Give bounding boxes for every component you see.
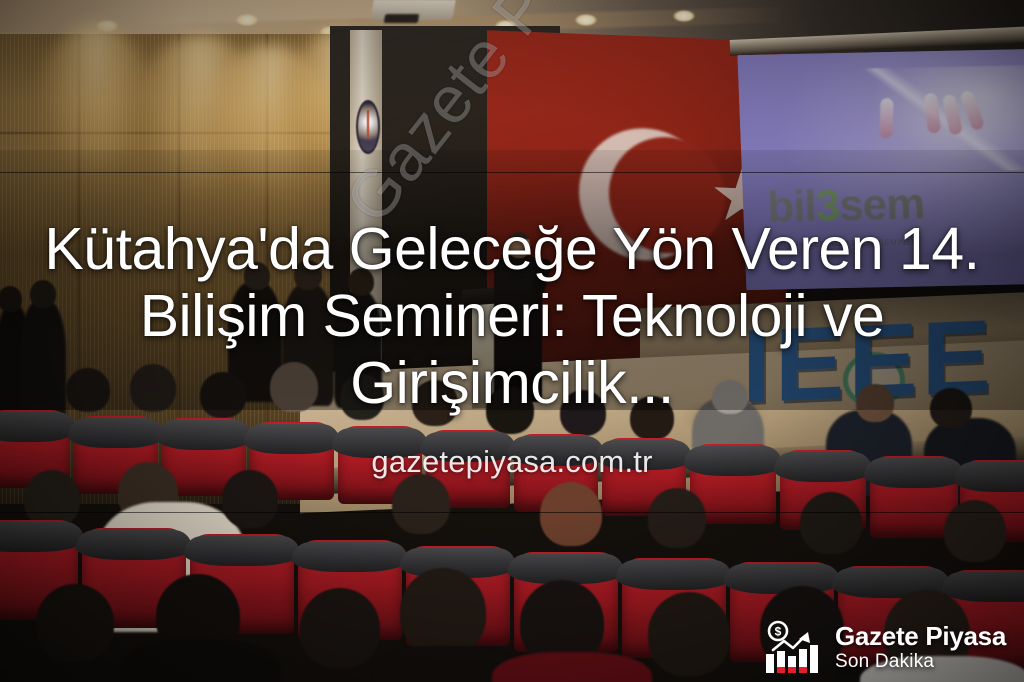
bar-chart-dollar-arrow-icon: $: [764, 620, 826, 674]
attendee-head: [222, 470, 278, 528]
ceiling-light-icon: [575, 14, 597, 26]
brand-text: Gazete Piyasa Son Dakika: [835, 623, 1006, 671]
attendee-head: [944, 500, 1006, 562]
university-emblem-icon: [356, 100, 380, 154]
wall-panel-seam: [0, 132, 350, 134]
attendee-head: [648, 488, 706, 548]
ceiling-light-icon: [673, 10, 695, 22]
attendee-head: [300, 588, 380, 668]
brand-subtitle: Son Dakika: [835, 652, 1006, 671]
attendee-head: [400, 568, 486, 656]
ceiling-projector: [370, 0, 456, 20]
svg-text:$: $: [775, 625, 782, 639]
screenshot-root: bil3sem BILISIM TEKNOLOJILERI SEMINERI I…: [0, 0, 1024, 682]
attendee-head: [540, 482, 602, 546]
brand-logo: $ Gazete Piyasa Son Dakika: [764, 620, 1006, 674]
attendee-head: [392, 474, 450, 534]
attendee-head: [36, 584, 114, 662]
seated-attendee: [120, 640, 280, 682]
ceiling-light-icon: [96, 20, 118, 32]
page-title: Kütahya'da Geleceğe Yön Veren 14. Bilişi…: [0, 216, 1024, 418]
attendee-head: [648, 592, 730, 676]
robotic-hand-icon: [879, 98, 893, 139]
brand-title: Gazete Piyasa: [835, 623, 1006, 649]
seated-attendee: [492, 652, 652, 682]
ceiling-light-icon: [236, 14, 258, 26]
attendee-head: [800, 492, 862, 554]
